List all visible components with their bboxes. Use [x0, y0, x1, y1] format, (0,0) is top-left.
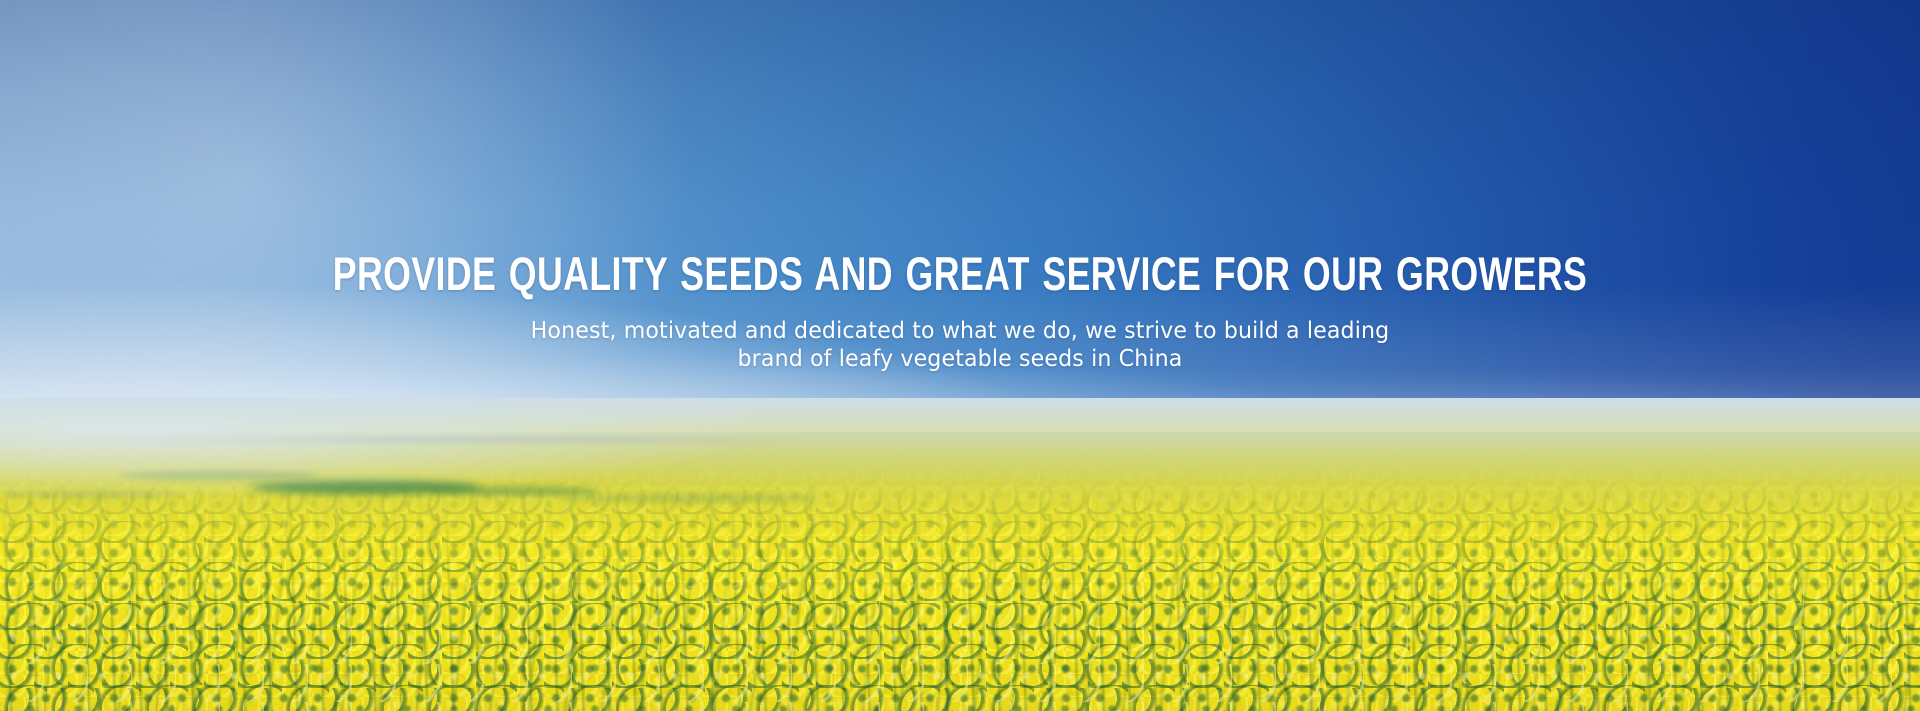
hero-subtitle-line-2: brand of leafy vegetable seeds in China — [58, 344, 1863, 372]
field-depth-shading — [0, 398, 1920, 711]
hero-headline: PROVIDE QUALITY SEEDS AND GREAT SERVICE … — [230, 248, 1689, 300]
sky-background — [0, 0, 1920, 460]
hero-subtitle: Honest, motivated and dedicated to what … — [58, 316, 1863, 372]
hero-subtitle-line-1: Honest, motivated and dedicated to what … — [58, 316, 1863, 344]
hero-copy-block: PROVIDE QUALITY SEEDS AND GREAT SERVICE … — [0, 248, 1920, 372]
rapeseed-field — [0, 398, 1920, 711]
hero-banner: PROVIDE QUALITY SEEDS AND GREAT SERVICE … — [0, 0, 1920, 711]
